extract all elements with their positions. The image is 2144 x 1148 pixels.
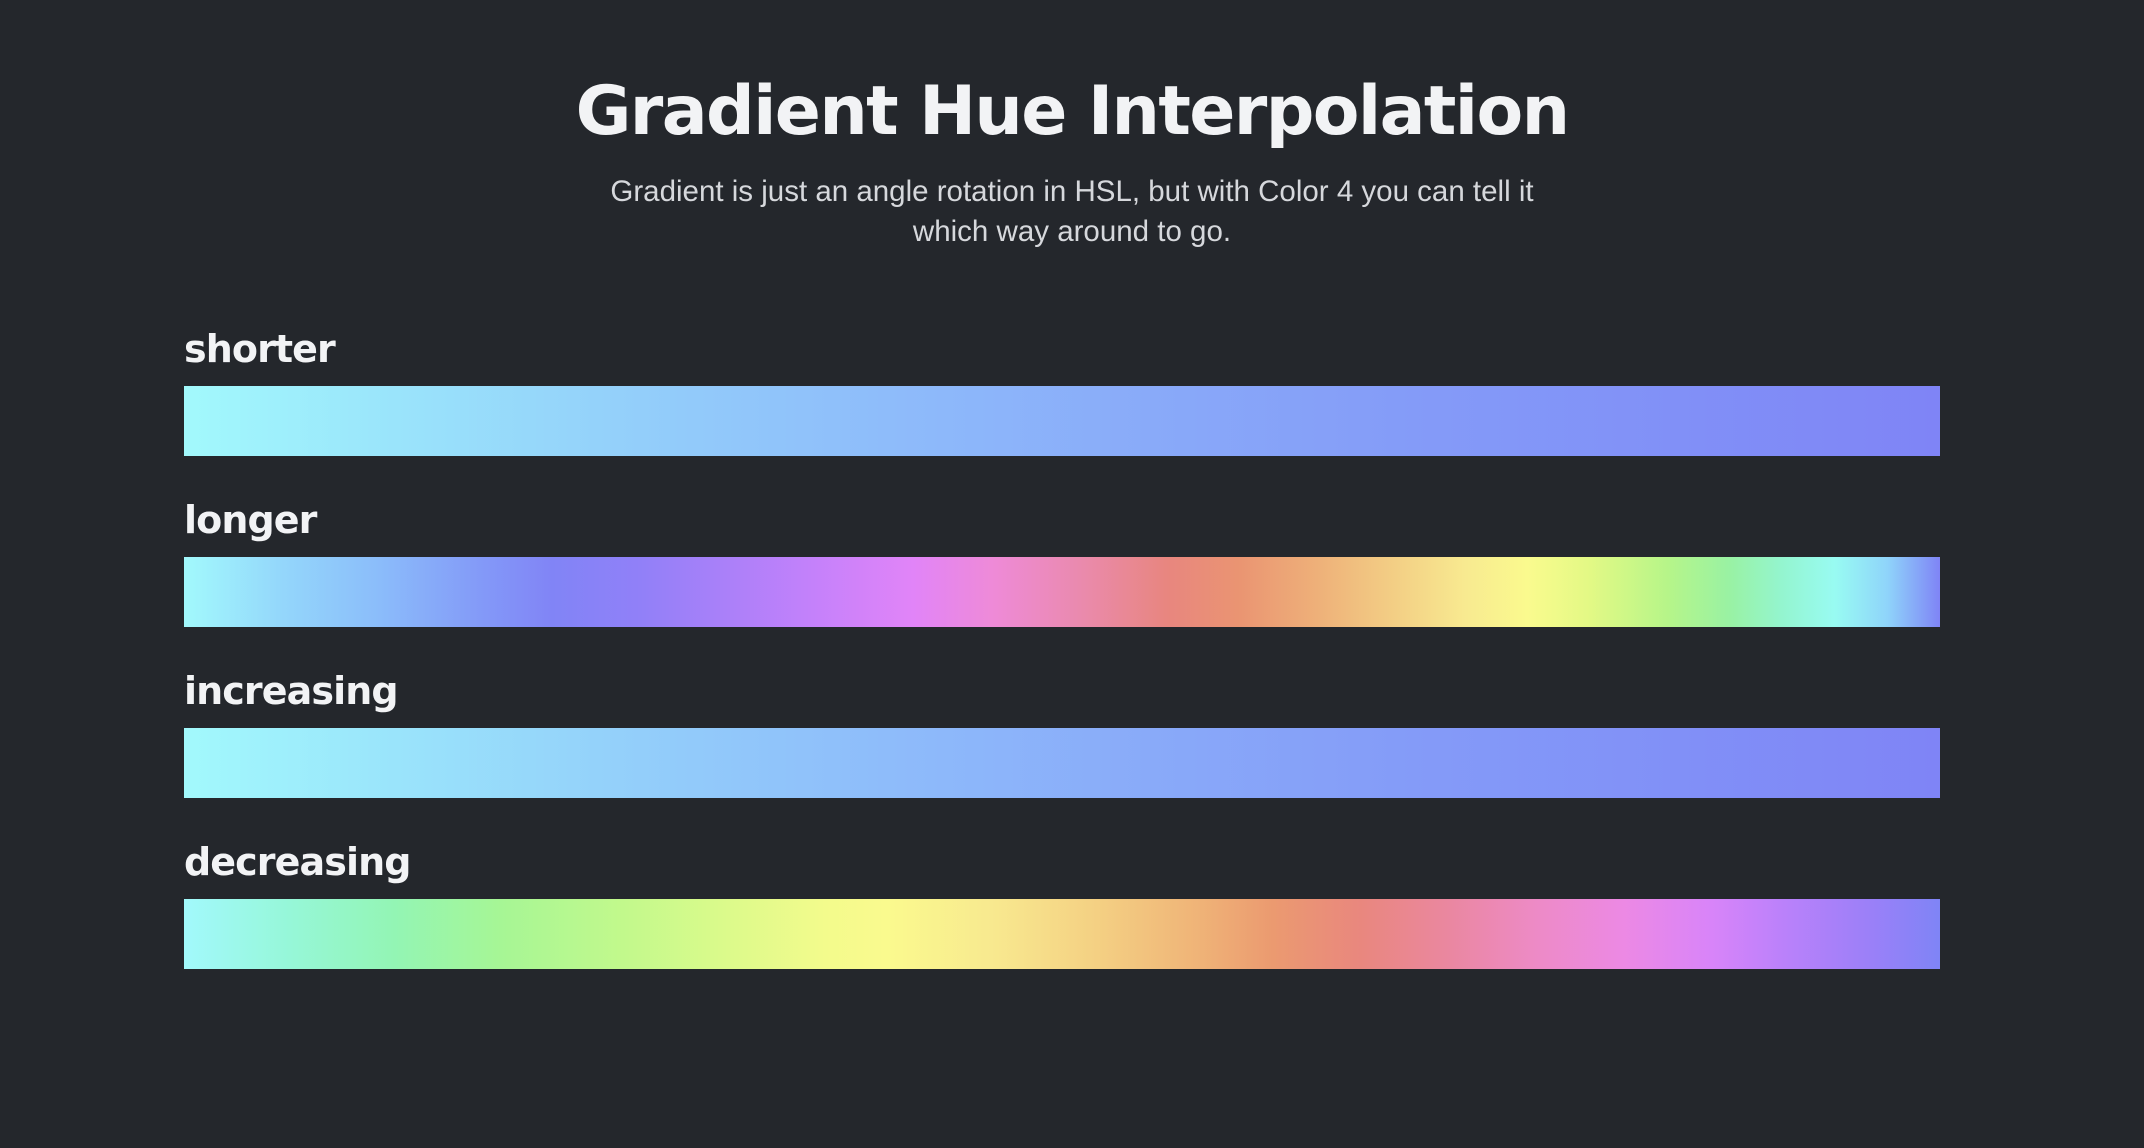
gradient-bar-increasing xyxy=(184,728,1940,798)
page-title: Gradient Hue Interpolation xyxy=(0,78,2144,146)
swatch-label-increasing: increasing xyxy=(184,672,1940,710)
gradient-bar-shorter xyxy=(184,386,1940,456)
swatch-label-longer: longer xyxy=(184,501,1940,539)
swatch-label-shorter: shorter xyxy=(184,330,1940,368)
swatch-label-decreasing: decreasing xyxy=(184,843,1940,881)
page-header: Gradient Hue Interpolation Gradient is j… xyxy=(0,0,2144,253)
gradient-swatch-longer: longer xyxy=(184,501,1940,627)
gradient-swatch-shorter: shorter xyxy=(184,330,1940,456)
gradient-swatch-list: shorter longer increasing decreasing xyxy=(184,330,1940,1014)
gradient-swatch-increasing: increasing xyxy=(184,672,1940,798)
gradient-bar-longer xyxy=(184,557,1940,627)
page-subtitle: Gradient is just an angle rotation in HS… xyxy=(572,172,1572,253)
gradient-bar-decreasing xyxy=(184,899,1940,969)
gradient-demo-page: Gradient Hue Interpolation Gradient is j… xyxy=(0,0,2144,1148)
gradient-swatch-decreasing: decreasing xyxy=(184,843,1940,969)
